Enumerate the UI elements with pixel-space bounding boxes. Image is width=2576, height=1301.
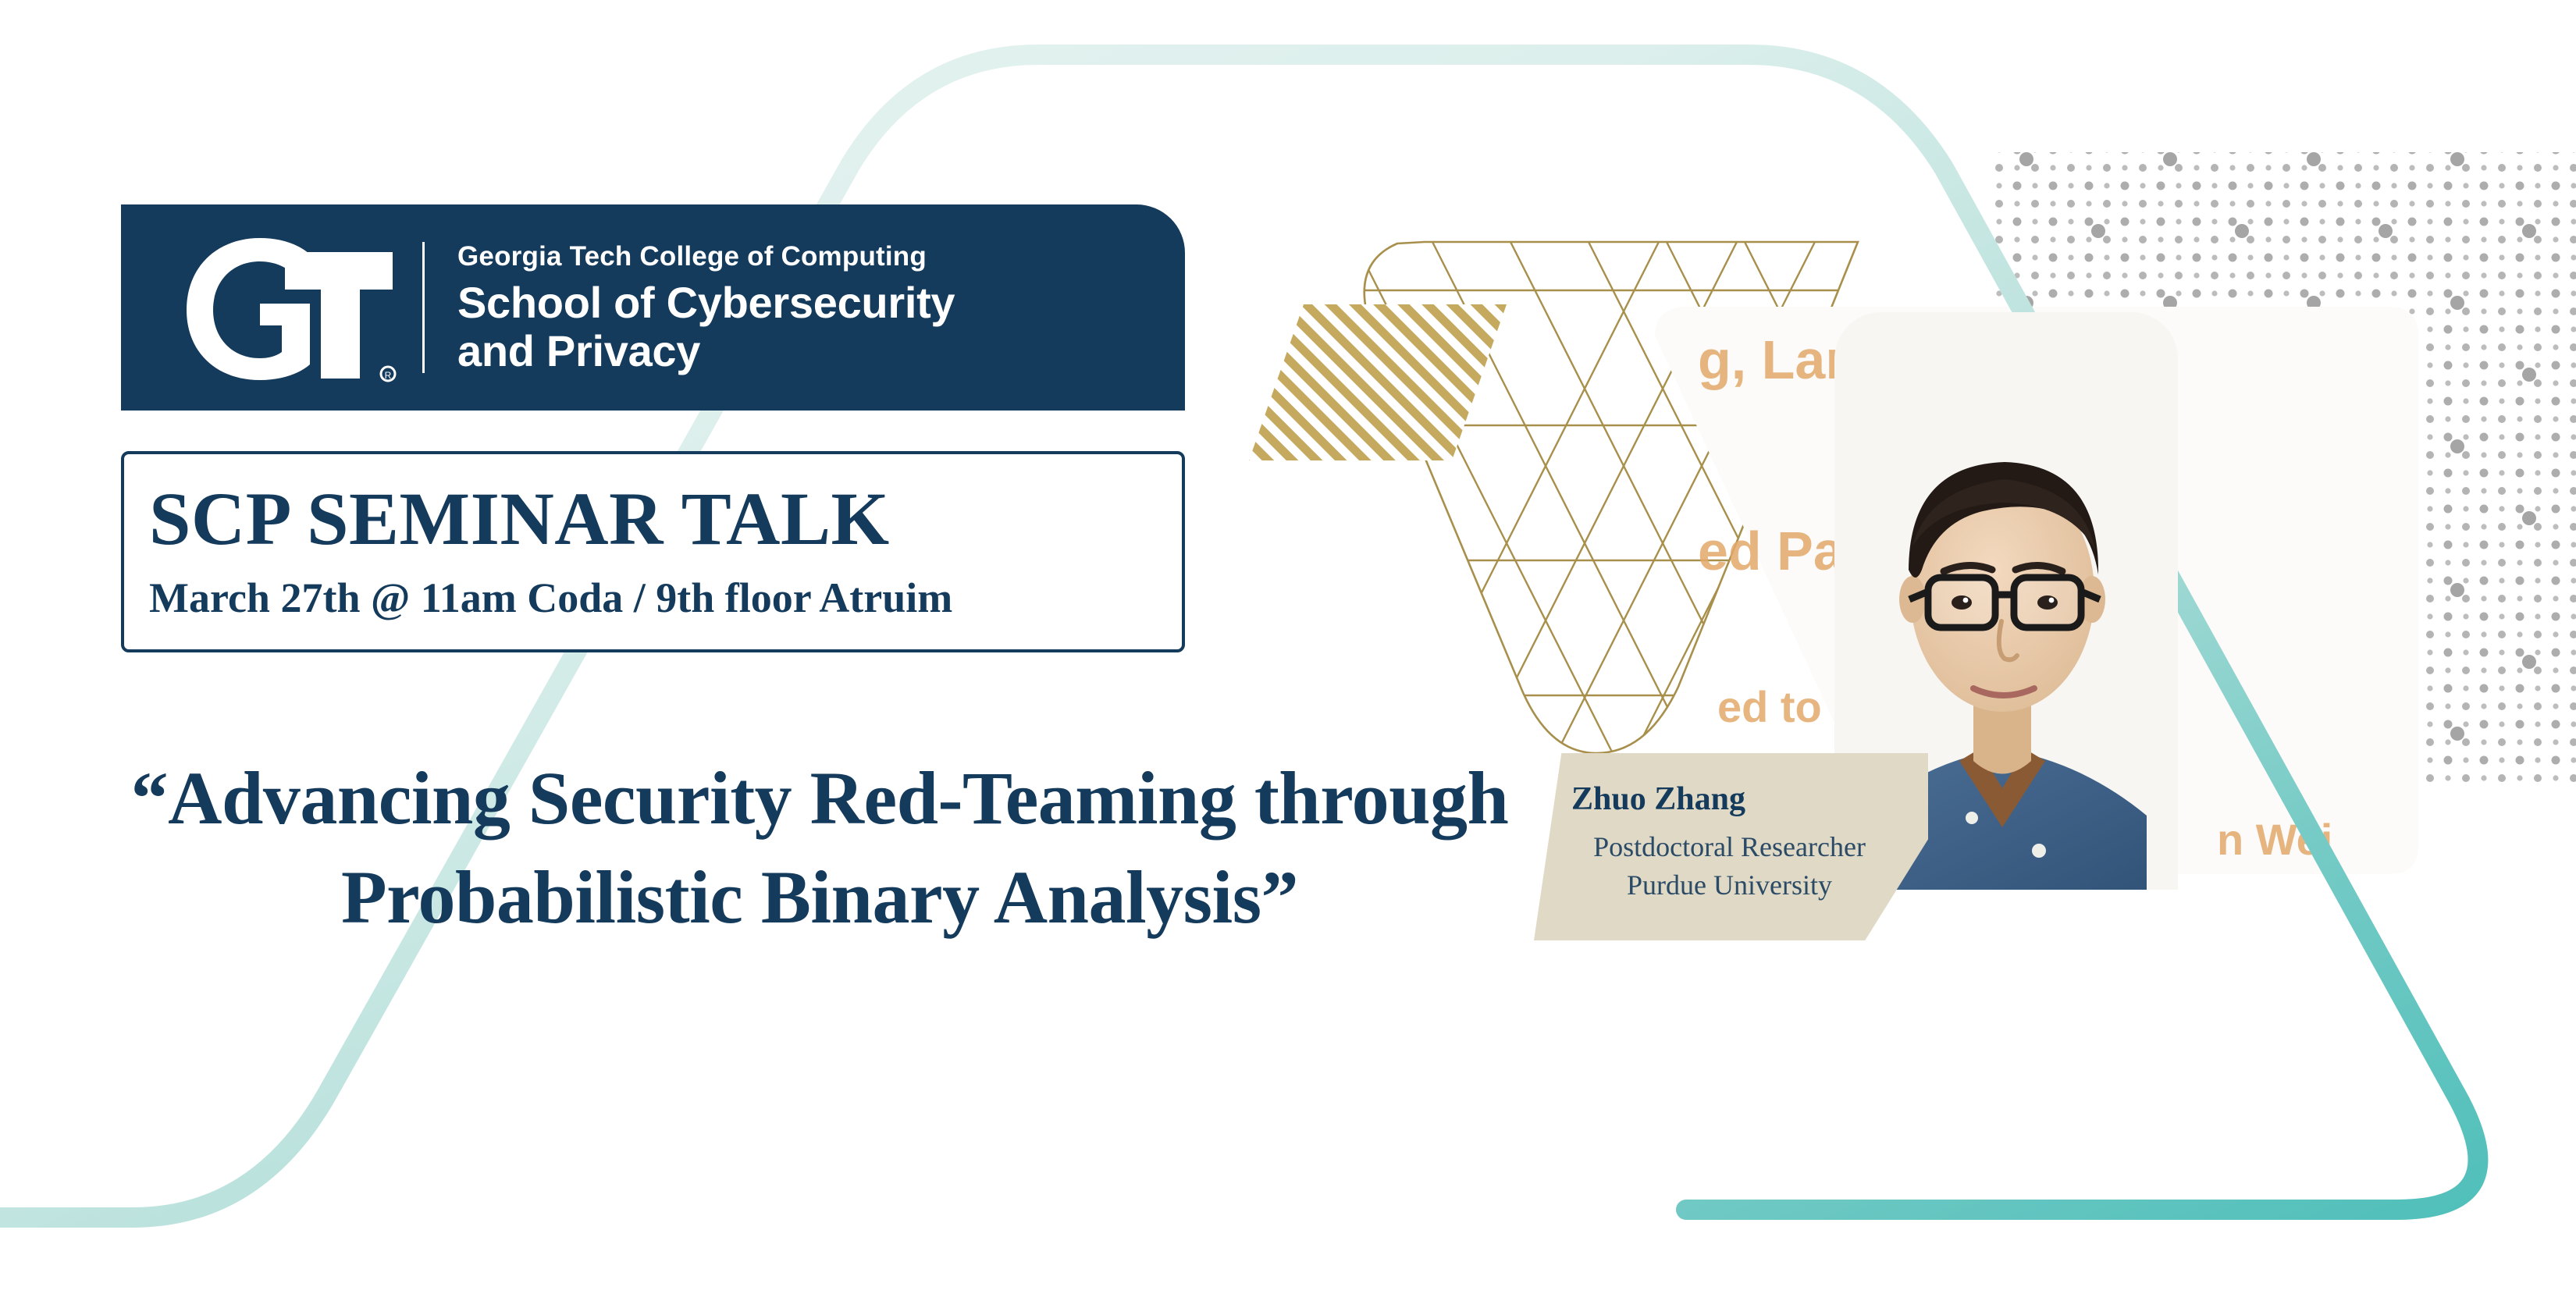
college-name: Georgia Tech College of Computing — [457, 243, 955, 270]
school-name-line-1: School of Cybersecurity — [457, 281, 955, 325]
speaker-name: Zhuo Zhang — [1571, 781, 1928, 817]
talk-title: “Advancing Security Red-Teaming through … — [117, 749, 1522, 947]
seminar-flyer: g, Langu ed Pap ed to n Wei R Georgia Te… — [0, 0, 2576, 1301]
logo-divider — [422, 242, 425, 373]
georgia-tech-gt-icon: R — [168, 226, 402, 389]
seminar-event-box: SCP SEMINAR TALK March 27th @ 11am Coda … — [121, 451, 1185, 652]
school-name-line-2: and Privacy — [457, 329, 955, 373]
gt-logo-banner: R Georgia Tech College of Computing Scho… — [121, 204, 1185, 411]
speaker-info-card: Zhuo Zhang Postdoctoral Researcher Purdu… — [1534, 753, 1928, 940]
blurred-text-3: ed to — [1717, 682, 1822, 731]
blurred-text-4: n Wei — [2217, 815, 2332, 864]
striped-parallelogram-decoration — [1249, 304, 1507, 460]
speaker-role: Postdoctoral Researcher — [1571, 828, 1928, 866]
logo-wordmark: Georgia Tech College of Computing School… — [457, 243, 955, 373]
seminar-heading: SCP SEMINAR TALK — [149, 482, 1182, 556]
gold-v-outline — [1364, 242, 1858, 753]
svg-text:R: R — [385, 370, 392, 381]
speaker-organization: Purdue University — [1571, 866, 1928, 905]
seminar-datetime-location: March 27th @ 11am Coda / 9th floor Atrui… — [149, 574, 1182, 622]
